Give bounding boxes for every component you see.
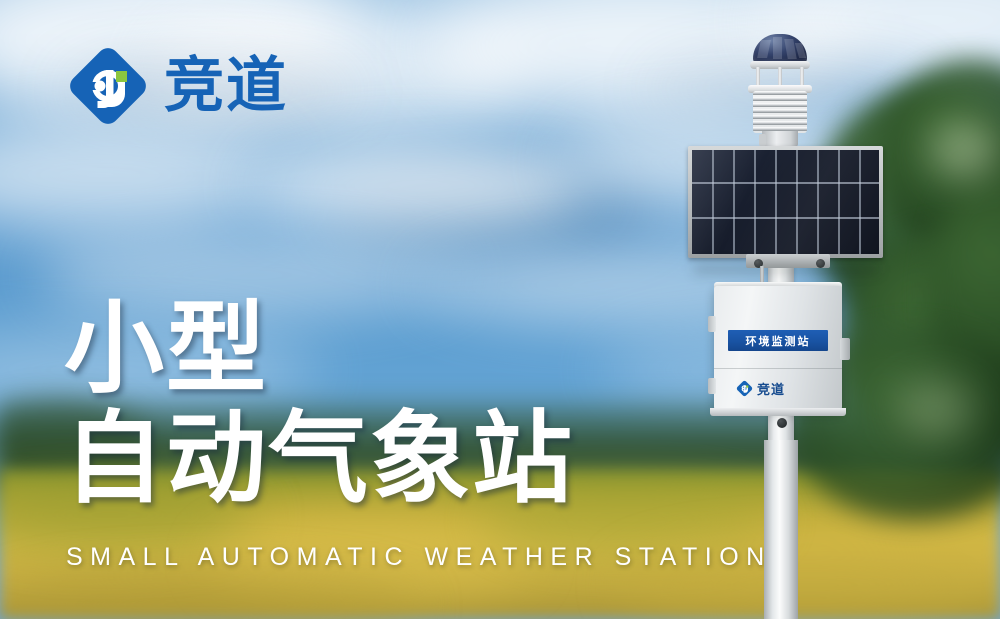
brand-name: 竞道 xyxy=(164,56,288,116)
solar-panel-shadow xyxy=(694,264,878,274)
brand-logo[interactable]: 竞道 xyxy=(66,44,288,128)
control-box-banner-text: 环境监测站 xyxy=(746,333,811,349)
control-box-bottom-ledge xyxy=(710,408,846,416)
sensor-dome-icon xyxy=(753,34,807,64)
control-box-seam xyxy=(714,368,842,369)
jingdao-diamond-logo-icon xyxy=(736,380,753,397)
sensor-base-collar xyxy=(762,131,798,147)
headline-line-1: 小型 xyxy=(64,296,704,402)
hero-headline: 小型 自动气象站 xyxy=(64,296,704,512)
tree-highlight xyxy=(930,120,1000,180)
control-box-latch xyxy=(840,338,850,360)
solar-panel-cells xyxy=(692,150,879,254)
sensor-cable-clip xyxy=(759,134,766,146)
weather-station-banner: 竞道 小型 自动气象站 SMALL AUTOMATIC WEATHER STAT… xyxy=(0,0,1000,619)
control-box-banner: 环境监测站 xyxy=(728,330,828,351)
solar-panel xyxy=(688,146,883,268)
pole-mount-bolt xyxy=(777,418,787,428)
pole-lower-section xyxy=(764,440,798,619)
radiation-shield-louvers xyxy=(753,91,807,133)
weather-station-device: 环境监测站 竞道 xyxy=(660,20,920,619)
sensor-support-posts xyxy=(754,67,806,87)
headline-line-2: 自动气象站 xyxy=(64,406,704,512)
control-box: 环境监测站 竞道 xyxy=(714,286,842,410)
ultrasonic-weather-sensor xyxy=(742,34,818,146)
control-box-brand-name: 竞道 xyxy=(757,379,785,398)
control-box-hinge xyxy=(708,378,716,394)
solar-panel-frame xyxy=(688,146,883,258)
control-box-hinge xyxy=(708,316,716,332)
jingdao-diamond-logo-icon xyxy=(66,44,150,128)
control-box-brand-logo: 竞道 xyxy=(736,378,822,398)
